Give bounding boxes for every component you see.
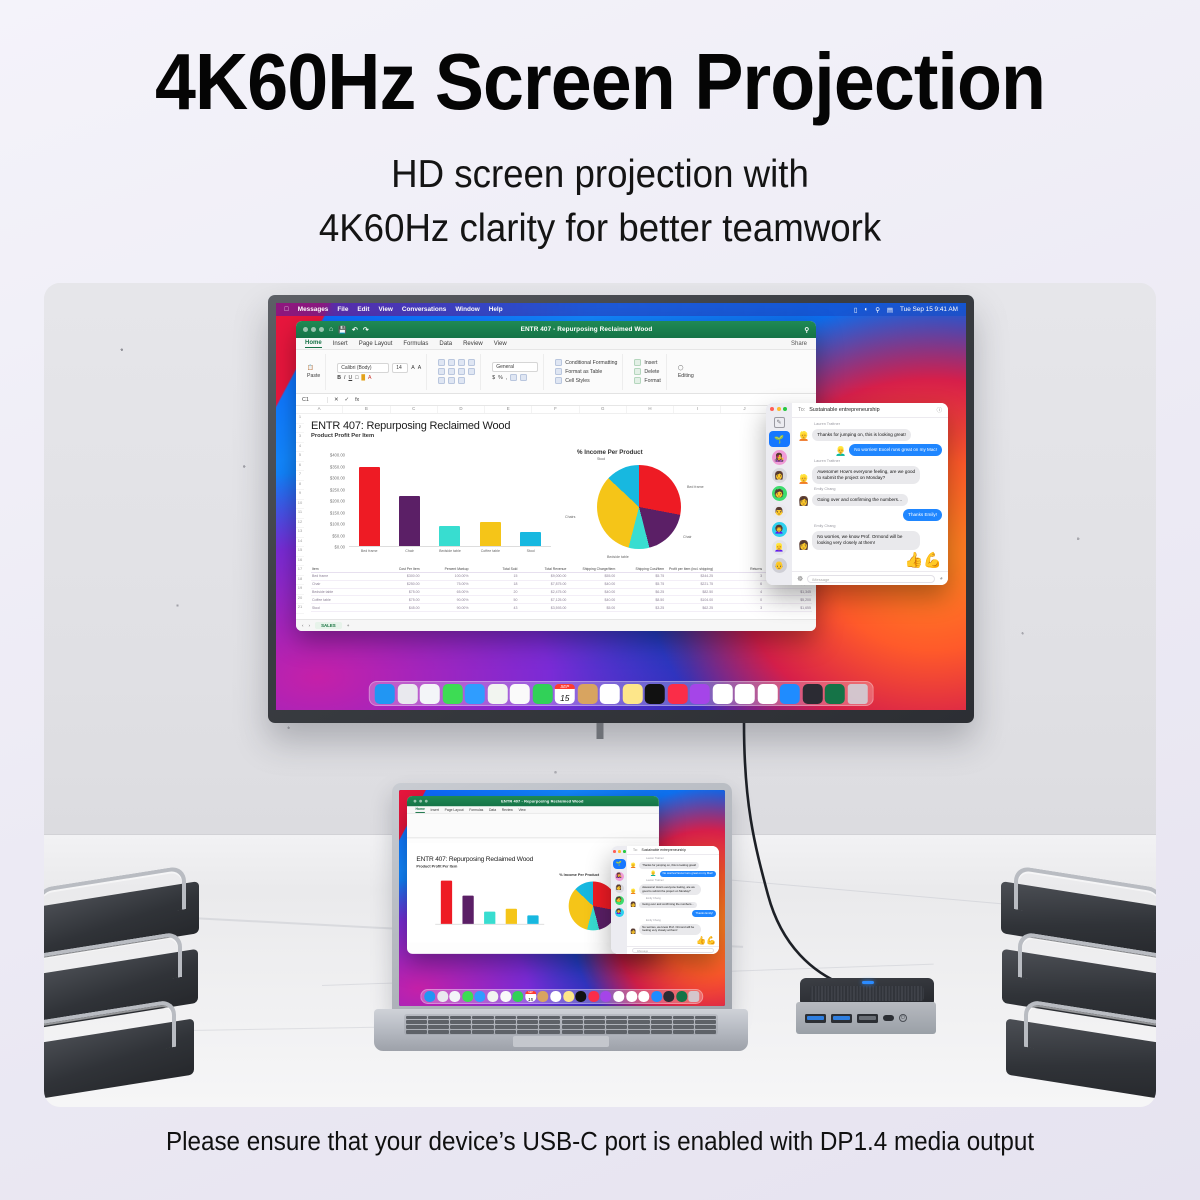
table-cell[interactable]: $5.75 [616,574,665,578]
row-header[interactable]: 20 [296,595,304,605]
add-sheet-button[interactable]: + [347,623,350,628]
wifi-icon[interactable]: ◐ [864,306,868,313]
dock-icon-reminders[interactable] [600,684,620,704]
keyboard-key[interactable] [472,1016,493,1020]
dock-icon-appstore[interactable] [780,684,800,704]
conversation-avatar-5-item[interactable]: 👩‍🦱 [772,522,787,537]
accept-formula-icon[interactable]: ✓ [345,397,350,403]
table-row[interactable]: Coffee table$75.0090.00%50$7,125.00$40.0… [311,596,812,604]
format-cells-button[interactable]: Format [644,378,660,384]
undo-icon[interactable]: ↶ [352,326,358,334]
row-header[interactable]: 12 [296,519,304,529]
keyboard-key[interactable] [562,1016,583,1020]
table-cell[interactable]: 20 [470,590,519,594]
row-header[interactable]: 9 [296,490,304,500]
menubar-item-file[interactable]: File [337,306,348,313]
row-header[interactable]: 18 [296,576,304,586]
tab-insert[interactable]: Insert [333,341,348,347]
keyboard-key[interactable] [406,1025,427,1029]
dock-icon-calendar[interactable]: SEP15 [525,991,536,1002]
dock-icon-maps[interactable] [487,991,498,1002]
menubar-item-conversations[interactable]: Conversations [402,306,446,313]
col-H[interactable]: H [627,406,674,413]
table-cell[interactable]: Chair [311,582,372,586]
keyboard-key[interactable] [517,1016,538,1020]
data-table[interactable]: ItemCost Per ItemPercent MarkupTotal Sol… [311,567,812,612]
table-cell[interactable]: 100.00% [421,574,470,578]
col-A[interactable]: A [296,406,343,413]
dock-icon-notes[interactable] [622,684,642,704]
dock-icon-photos[interactable] [510,684,530,704]
table-cell[interactable]: $344.25 [665,574,714,578]
bar-chair[interactable] [399,496,420,546]
keyboard-key[interactable] [628,1025,649,1029]
table-cell[interactable]: 43 [470,606,519,610]
laptop-thread-title[interactable]: Sustainable entrepreneurship [642,848,686,852]
row-header[interactable]: 11 [296,509,304,519]
table-row[interactable]: Stool$45.0090.00%43$3,593.00$5.00$3.25$6… [311,604,812,612]
macos-dock[interactable]: SEP15 [369,681,874,706]
messages-traffic-lights[interactable] [770,407,787,411]
table-cell[interactable]: $75.00 [372,598,421,602]
keyboard-key[interactable] [428,1030,449,1034]
laptop-tab-data[interactable]: Data [489,808,496,812]
keyboard-key[interactable] [539,1030,560,1034]
excel-status-bar[interactable]: ‹ › SALES + [296,619,816,631]
row-header[interactable]: 10 [296,500,304,510]
pie-chart[interactable]: % Income Per Product Bed frame Chair Bed… [563,449,723,569]
table-cell[interactable]: $5.00 [567,606,616,610]
keyboard-key[interactable] [517,1030,538,1034]
keyboard-key[interactable] [539,1025,560,1029]
keyboard-key[interactable] [428,1025,449,1029]
row-header[interactable]: 5 [296,452,304,462]
paste-icon[interactable]: 📋 [307,365,313,371]
format-as-table-button[interactable]: Format as Table [565,369,602,375]
ribbon-group-clipboard[interactable]: 📋 Paste [302,354,326,390]
ribbon-group-cells[interactable]: Insert Delete Format [629,354,666,390]
prev-sheet-icon[interactable]: ‹ [302,623,304,628]
underline-button[interactable]: U [348,375,352,381]
name-box[interactable]: C1 [302,397,328,403]
table-row[interactable]: Bedside table$75.0065.00%20$2,475.00$40.… [311,589,812,597]
table-cell[interactable]: $250.00 [372,582,421,586]
dock-icon-facetime[interactable] [532,684,552,704]
dock-icon-siri[interactable] [802,684,822,704]
keyboard-key[interactable] [651,1025,672,1029]
keyboard-key[interactable] [695,1020,716,1024]
keyboard-key[interactable] [562,1030,583,1034]
table-cell[interactable]: $104.00 [665,598,714,602]
table-cell[interactable]: $300.00 [372,574,421,578]
messages-thread[interactable]: To: Sustainable entrepreneurship ⓘ Laure… [792,403,948,585]
dock-icon-reminders[interactable] [550,991,561,1002]
message-bubble[interactable]: No worries! Excel runs great on my Mac! [660,871,716,878]
message-bubble[interactable]: Going over and confirming the numbers… [812,494,907,506]
laptop-tab-home[interactable]: Home [415,807,424,813]
table-cell[interactable]: $40.00 [567,590,616,594]
table-cell[interactable]: $1,345 [763,590,812,594]
tab-page-layout[interactable]: Page Layout [359,341,393,347]
row-header[interactable]: 13 [296,528,304,538]
row-header[interactable]: 3 [296,433,304,443]
conversation-avatar-2-item[interactable]: 👩 [772,468,787,483]
pie-chart-graphic[interactable] [597,465,681,549]
keyboard-key[interactable] [472,1020,493,1024]
column-header[interactable]: Shipping Cost/Item [616,567,665,571]
dock-icon-safari[interactable] [449,991,460,1002]
bar-coffee-table[interactable] [480,522,501,546]
excel-ribbon[interactable]: 📋 Paste Calibri (Body) 14 A A B I [296,350,816,394]
column-header[interactable]: Total Revenue [518,567,567,571]
conversation-avatar-1-item[interactable]: 👩‍🎤 [772,450,787,465]
borders-icon[interactable]: □ [355,375,358,381]
usb-c-docking-station[interactable]: ⏻ [796,978,936,1040]
table-cell[interactable]: $55.00 [567,574,616,578]
table-cell[interactable]: $40.00 [567,582,616,586]
table-cell[interactable]: Stool [311,606,372,610]
table-cell[interactable]: Coffee table [311,598,372,602]
laptop-tab-formulas[interactable]: Formulas [469,808,483,812]
dock-icon-music[interactable] [667,684,687,704]
dock-icon-messages[interactable] [442,684,462,704]
menubar-app-name[interactable]: Messages [298,306,329,313]
table-cell[interactable]: $7,125.00 [518,598,567,602]
message-bubble[interactable]: No worries! Excel runs great on my Mac! [849,444,942,456]
dock-icon-numbers[interactable] [735,684,755,704]
laptop-messages-window[interactable]: 🌱 👩‍🎤 👩 🧑 👩‍🦱 To: Sustainable entreprene… [611,846,719,954]
table-cell[interactable]: 6 [714,582,763,586]
conversation-avatar-6-item[interactable]: 👱‍♀️ [772,540,787,555]
insert-function-icon[interactable]: fx [355,397,359,403]
keyboard-key[interactable] [406,1020,427,1024]
row-header[interactable]: 17 [296,566,304,576]
row-header[interactable]: 21 [296,604,304,614]
messages-composer[interactable]: ☸ iMessage ◕ [792,571,948,585]
dock-icon-pages[interactable] [638,991,649,1002]
delete-cells-button[interactable]: Delete [644,369,659,375]
macos-menubar[interactable]:  Messages File Edit View Conversations … [276,303,966,316]
editing-icon[interactable]: ◯ [678,365,684,371]
table-cell[interactable]: 90.00% [421,606,470,610]
font-name-select[interactable]: Calibri (Body) [337,363,389,373]
next-sheet-icon[interactable]: › [309,623,311,628]
table-cell[interactable]: $221.75 [665,582,714,586]
keyboard-key[interactable] [450,1020,471,1024]
message-bubble[interactable]: Awesome! How’s everyone feeling, are we … [639,884,701,894]
dock-icon-numbers[interactable] [626,991,637,1002]
keyboard-key[interactable] [495,1030,516,1034]
menubar-item-help[interactable]: Help [489,306,503,313]
dock-icon-pages[interactable] [757,684,777,704]
message-bubble[interactable]: Thanks Emily! [903,509,942,521]
table-cell[interactable]: $6.25 [616,590,665,594]
dock-icon-launchpad[interactable] [397,684,417,704]
laptop-trackpad[interactable] [513,1036,609,1047]
keyboard-key[interactable] [628,1030,649,1034]
keyboard-key[interactable] [472,1025,493,1029]
conditional-formatting-button[interactable]: Conditional Formatting [565,360,617,366]
hub-port-panel[interactable]: ⏻ [796,1002,936,1034]
table-cell[interactable]: 90.00% [421,598,470,602]
table-cell[interactable]: $5,200 [763,598,812,602]
table-cell[interactable]: 50 [470,598,519,602]
keyboard-key[interactable] [695,1016,716,1020]
bold-button[interactable]: B [337,375,341,381]
menubar-clock[interactable]: Tue Sep 15 9:41 AM [900,306,958,313]
table-cell[interactable]: 3 [714,606,763,610]
dock-icon-facetime[interactable] [512,991,523,1002]
bar-stool[interactable] [520,532,541,546]
col-E[interactable]: E [485,406,532,413]
keyboard-key[interactable] [562,1020,583,1024]
col-D[interactable]: D [438,406,485,413]
dock-icon-notes[interactable] [563,991,574,1002]
currency-icon[interactable]: $ [492,375,495,381]
decrease-font-icon[interactable]: A [418,365,421,371]
column-header[interactable]: Cost Per Item [372,567,421,571]
dock-icon-mail[interactable] [475,991,486,1002]
table-cell[interactable]: 4 [714,590,763,594]
keyboard-key[interactable] [628,1016,649,1020]
redo-icon[interactable]: ↷ [363,326,369,334]
keyboard-key[interactable] [673,1025,694,1029]
col-B[interactable]: B [343,406,390,413]
info-icon[interactable]: ⓘ [937,406,942,414]
keyboard-key[interactable] [539,1020,560,1024]
font-color-icon[interactable]: A [368,375,371,381]
table-cell[interactable]: $7,875.00 [518,582,567,586]
conversation-selected[interactable]: 🌱 [769,431,790,447]
column-header[interactable]: Total Sold [470,567,519,571]
message-bubble[interactable]: Thanks for jumping on, this is looking g… [812,429,911,441]
keyboard-key[interactable] [695,1025,716,1029]
insert-cells-button[interactable]: Insert [644,360,657,366]
keyboard-key[interactable] [606,1020,627,1024]
column-header[interactable]: Shipping Charge/Item [567,567,616,571]
apps-icon[interactable]: ☸ [797,575,803,583]
table-cell[interactable]: 65.00% [421,590,470,594]
keyboard-key[interactable] [584,1030,605,1034]
usb-a-port-2[interactable] [831,1014,852,1023]
tab-view[interactable]: View [494,341,507,347]
keyboard-key[interactable] [651,1020,672,1024]
laptop-message-input[interactable]: iMessage [632,948,714,953]
audio-icon[interactable]: ◕ [939,576,943,582]
table-cell[interactable]: $62.25 [665,606,714,610]
excel-window[interactable]: ⌂ 💾 ↶ ↷ ENTR 407 - Repurposing Reclaimed… [296,321,816,631]
save-icon[interactable]: 💾 [338,326,347,334]
tab-home[interactable]: Home [305,340,322,348]
menubar-item-view[interactable]: View [378,306,392,313]
battery-icon[interactable]: ▯ [854,306,858,314]
table-row[interactable]: Bed frame$300.00100.00%15$9,000.00$55.00… [311,573,812,581]
keyboard-key[interactable] [584,1020,605,1024]
table-cell[interactable]: $5.75 [616,582,665,586]
keyboard-key[interactable] [450,1030,471,1034]
dock-icon-calendar[interactable]: SEP15 [555,684,575,704]
table-cell[interactable]: $3.25 [616,606,665,610]
table-cell[interactable]: Bed frame [311,574,372,578]
row-header[interactable]: 19 [296,585,304,595]
table-cell[interactable]: $9,000.00 [518,574,567,578]
keyboard-key[interactable] [651,1016,672,1020]
dock-icon-finder[interactable] [424,991,435,1002]
keyboard-key[interactable] [673,1030,694,1034]
keyboard-key[interactable] [495,1016,516,1020]
table-cell[interactable]: 75.00% [421,582,470,586]
keyboard-key[interactable] [450,1016,471,1020]
keyboard-key[interactable] [406,1030,427,1034]
table-cell[interactable]: $1,655 [763,606,812,610]
dock-icon-music[interactable] [588,991,599,1002]
dock-icon-maps[interactable] [487,684,507,704]
col-J[interactable]: J [721,406,768,413]
comma-icon[interactable]: , [506,375,507,381]
laptop-tab-review[interactable]: Review [502,808,513,812]
laptop-screen[interactable]: ENTR 407 - Repurposing Reclaimed Wood Ho… [399,790,725,1006]
messages-window[interactable]: ✎ 🌱 👩‍🎤 👩 🧑 👨 👩‍🦱 👱‍♀️ 👴 To: Sust [766,403,948,585]
laptop-keyboard[interactable] [404,1014,718,1035]
keyboard-key[interactable] [517,1025,538,1029]
keyboard-key[interactable] [428,1020,449,1024]
dock-icon-trash[interactable] [689,991,700,1002]
table-cell[interactable]: $82.50 [665,590,714,594]
column-header[interactable]: Item [311,567,372,571]
keyboard-key[interactable] [606,1025,627,1029]
row-headers[interactable]: 123456789101112131415161718192021 [296,414,304,619]
keyboard-key[interactable] [495,1025,516,1029]
message-bubble[interactable]: No worries, we know Prof. Ormond will be… [639,924,701,934]
bar-bedside-table[interactable] [439,526,460,546]
menubar-item-window[interactable]: Window [455,306,479,313]
keyboard-key[interactable] [517,1020,538,1024]
table-cell[interactable]: $45.00 [372,606,421,610]
laptop-tab-insert[interactable]: Insert [431,808,439,812]
row-header[interactable]: 16 [296,557,304,567]
row-header[interactable]: 15 [296,547,304,557]
power-button[interactable]: ⏻ [899,1014,907,1022]
ribbon-group-editing[interactable]: ◯ Editing [673,354,699,390]
col-F[interactable]: F [532,406,579,413]
window-traffic-lights[interactable] [303,327,324,332]
col-G[interactable]: G [580,406,627,413]
message-bubble[interactable]: Thanks Emily! [692,910,716,917]
cancel-formula-icon[interactable]: ✕ [334,397,339,403]
menubar-item-edit[interactable]: Edit [357,306,369,313]
percent-icon[interactable]: % [498,375,503,381]
table-cell[interactable]: Bedside table [311,590,372,594]
message-bubble[interactable]: Thanks for jumping on, this is looking g… [639,862,699,869]
keyboard-key[interactable] [562,1025,583,1029]
row-header[interactable]: 1 [296,414,304,424]
col-C[interactable]: C [391,406,438,413]
message-input[interactable]: iMessage [807,575,935,583]
laptop-tab-layout[interactable]: Page Layout [445,808,464,812]
dock-icon-podcasts[interactable] [690,684,710,704]
table-cell[interactable]: $8.50 [616,598,665,602]
column-header[interactable]: Profit per Item (incl. shipping) [665,567,714,571]
dock-icon-photos[interactable] [500,991,511,1002]
table-row[interactable]: Chair$250.0075.00%18$7,875.00$40.00$5.75… [311,581,812,589]
row-header[interactable]: 4 [296,443,304,453]
column-header[interactable]: Percent Markup [421,567,470,571]
conversation-avatar-7-item[interactable]: 👴 [772,558,787,573]
keyboard-key[interactable] [428,1016,449,1020]
excel-formula-bar[interactable]: C1 ✕ ✓ fx [296,394,816,406]
keyboard-key[interactable] [628,1020,649,1024]
sheet-tab-sales[interactable]: SALES [315,622,342,629]
table-cell[interactable]: $40.00 [567,598,616,602]
tab-data[interactable]: Data [439,341,452,347]
ribbon-group-number[interactable]: General $%, [487,354,544,390]
keyboard-key[interactable] [495,1020,516,1024]
tab-review[interactable]: Review [463,341,483,347]
ribbon-group-font[interactable]: Calibri (Body) 14 A A B I U □ █ A [332,354,427,390]
laptop-tab-view[interactable]: View [518,808,525,812]
keyboard-key[interactable] [673,1016,694,1020]
dock-icon-safari[interactable] [420,684,440,704]
dock-icon-trash[interactable] [847,684,867,704]
apple-logo-icon[interactable]:  [284,306,289,313]
share-button[interactable]: Share [791,341,807,347]
dock-icon-finder[interactable] [375,684,395,704]
usb-c-port[interactable] [883,1015,894,1021]
row-header[interactable]: 2 [296,424,304,434]
dock-icon-appstore[interactable] [651,991,662,1002]
column-headers[interactable]: A B C D E F G H I J K [296,406,816,414]
font-size-select[interactable]: 14 [392,363,408,373]
tab-formulas[interactable]: Formulas [403,341,428,347]
table-cell[interactable]: 3 [714,574,763,578]
message-bubble[interactable]: Awesome! How’s everyone feeling, are we … [812,466,920,484]
dock-icon-siri[interactable] [664,991,675,1002]
dock-icon-messages[interactable] [462,991,473,1002]
keyboard-key[interactable] [406,1016,427,1020]
row-header[interactable]: 14 [296,538,304,548]
conversation-avatar-4-item[interactable]: 👨 [772,504,787,519]
excel-ribbon-tabs[interactable]: Home Insert Page Layout Formulas Data Re… [296,338,816,350]
message-bubble[interactable]: No worries, we know Prof. Ormond will be… [812,531,920,549]
table-cell[interactable]: 15 [470,574,519,578]
italic-button[interactable]: I [344,375,345,381]
message-bubble[interactable]: Going over and confirming the numbers… [639,902,697,909]
home-icon[interactable]: ⌂ [329,326,333,334]
dock-icon-launchpad[interactable] [437,991,448,1002]
conversation-avatar-3-item[interactable]: 🧑 [772,486,787,501]
compose-icon[interactable]: ✎ [774,417,785,428]
keyboard-key[interactable] [450,1025,471,1029]
dock-icon-excel[interactable] [825,684,845,704]
keyboard-key[interactable] [673,1020,694,1024]
excel-sheet[interactable]: A B C D E F G H I J K 123456789101112131… [296,406,816,619]
table-cell[interactable]: $75.00 [372,590,421,594]
bar-bed-frame[interactable] [359,467,380,546]
number-format-select[interactable]: General [492,362,538,372]
ribbon-group-alignment[interactable] [433,354,481,390]
keyboard-key[interactable] [695,1030,716,1034]
dock-icon-news[interactable] [712,684,732,704]
row-header[interactable]: 7 [296,471,304,481]
dock-icon-mail[interactable] [465,684,485,704]
dock-icon-contacts[interactable] [577,684,597,704]
dock-icon-appletv[interactable] [575,991,586,1002]
usb-a-port-1[interactable] [805,1014,826,1023]
fill-color-icon[interactable]: █ [361,375,365,381]
usb-a-port-3[interactable] [857,1014,878,1023]
keyboard-key[interactable] [584,1016,605,1020]
row-header[interactable]: 8 [296,481,304,491]
